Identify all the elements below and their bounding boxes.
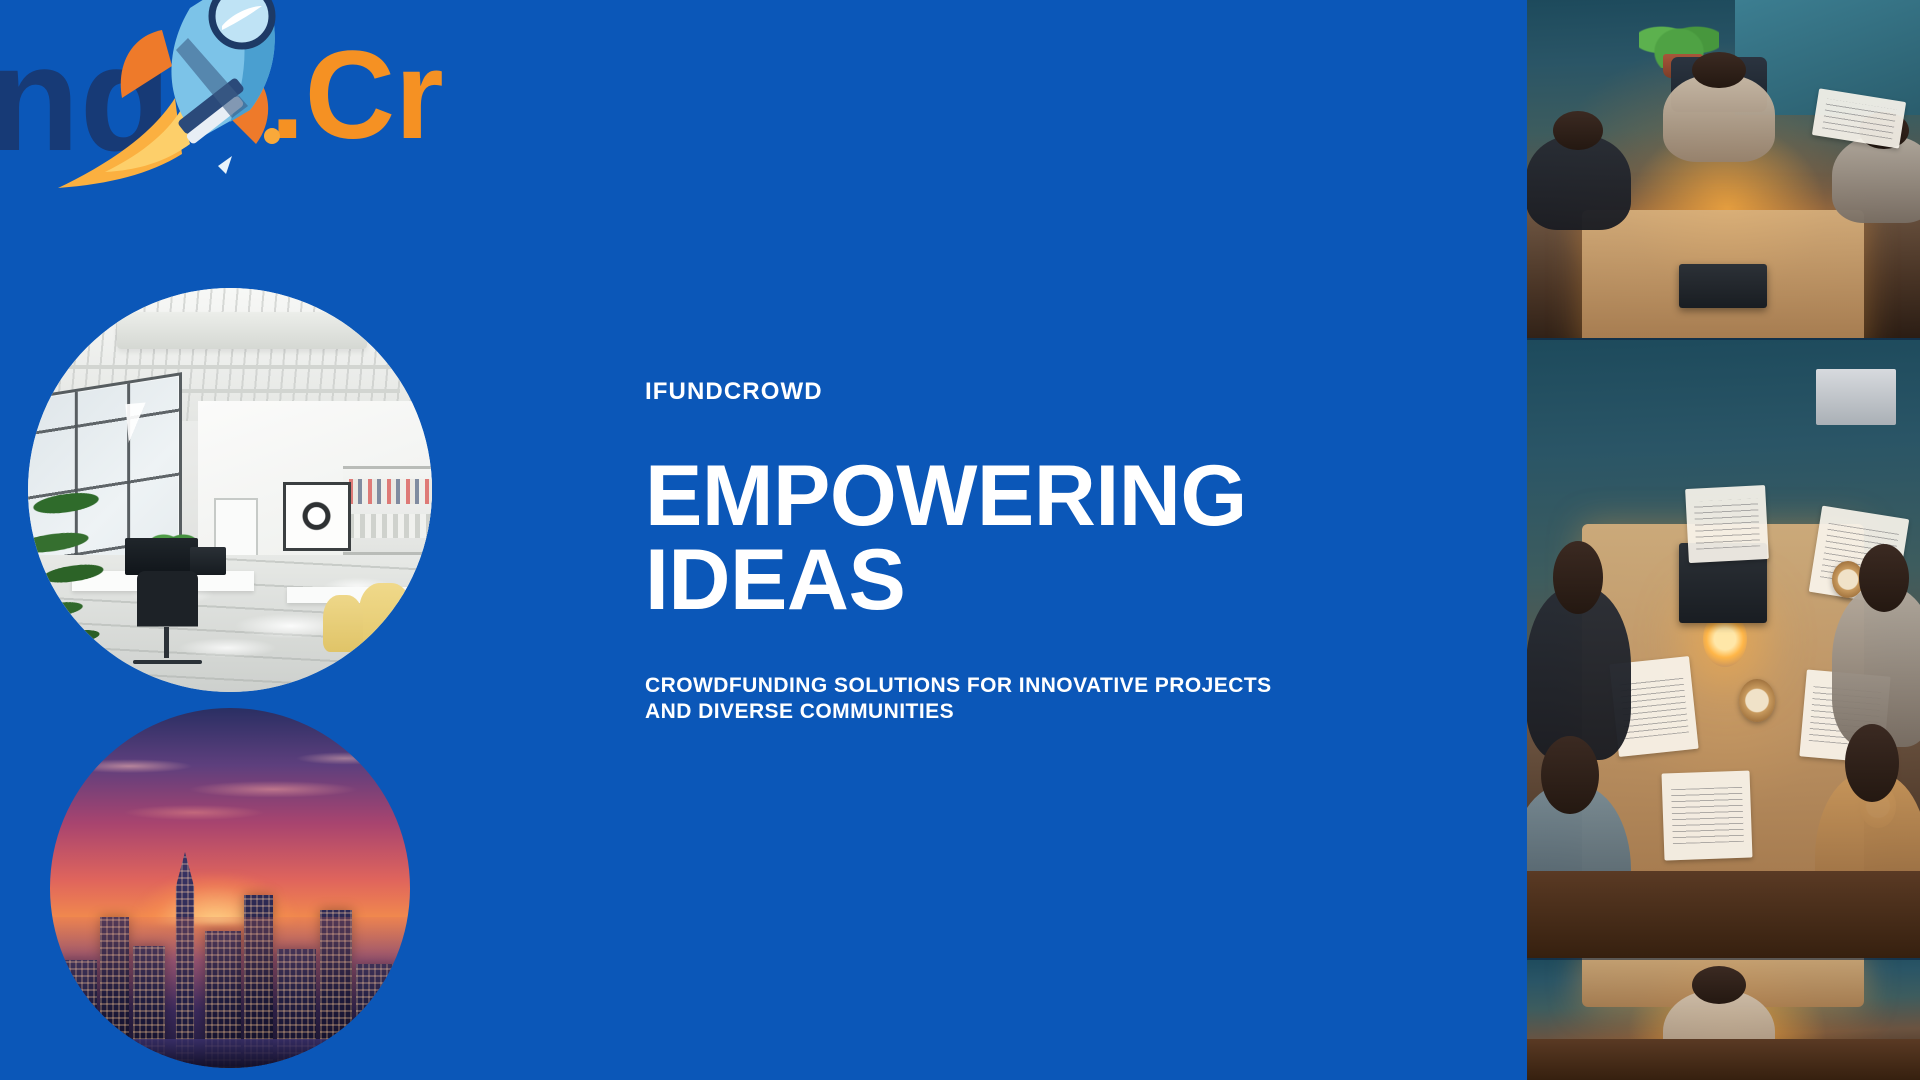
meeting-document <box>1685 485 1769 563</box>
panel-left-edge <box>1518 0 1527 1080</box>
brand-eyebrow: IFUNDCROWD <box>645 380 1465 404</box>
office-shelf <box>343 466 432 555</box>
subtitle-line-2: AND DIVERSE COMMUNITIES <box>645 699 1425 725</box>
circle-image-city <box>50 708 410 1068</box>
rocket-logo-icon: nd .Cr <box>0 0 570 228</box>
meeting-floor <box>1518 1039 1920 1080</box>
page-title: EMPOWERING IDEAS <box>645 454 1465 623</box>
office-yellow-chair <box>359 583 412 652</box>
photo-seam <box>1518 958 1920 960</box>
office-monitor-2 <box>190 547 226 575</box>
rocket-window <box>212 0 272 46</box>
meeting-laptop-2 <box>1816 369 1896 425</box>
office-yellow-chair-2 <box>323 595 363 652</box>
photo-strip <box>1518 0 1920 1080</box>
meeting-document <box>1661 770 1752 860</box>
office-task-chair <box>137 571 198 672</box>
circle-image-office <box>28 288 432 692</box>
meeting-person <box>1526 586 1631 760</box>
team-meeting-photo <box>1518 958 1920 1080</box>
meeting-person <box>1663 74 1776 162</box>
subtitle-line-1: CROWDFUNDING SOLUTIONS FOR INNOVATIVE PR… <box>645 673 1425 699</box>
office-wreath-artwork <box>283 482 352 551</box>
page-subtitle: CROWDFUNDING SOLUTIONS FOR INNOVATIVE PR… <box>645 673 1425 726</box>
office-beam <box>68 365 415 369</box>
city-clouds <box>50 730 410 860</box>
presentation-slide: nd .Cr <box>0 0 1920 1080</box>
team-meeting-photo <box>1518 0 1920 338</box>
team-meeting-photo <box>1518 338 1920 958</box>
rocket-spark-1 <box>264 128 280 144</box>
hero-text-block: IFUNDCROWD EMPOWERING IDEAS CROWDFUNDING… <box>645 380 1465 725</box>
city-skyline-photo <box>50 708 410 1068</box>
office-duct <box>117 312 367 348</box>
city-waterfront <box>50 1039 410 1068</box>
photo-seam <box>1518 338 1920 340</box>
photo-team-overhead-top <box>1518 0 1920 338</box>
meeting-laptop <box>1679 264 1767 308</box>
photo-team-overhead-middle <box>1518 338 1920 958</box>
logo-wordmark-right: .Cr <box>270 26 444 165</box>
ifundcrowd-logo[interactable]: nd .Cr <box>0 0 570 228</box>
headline-line-2: IDEAS <box>645 538 1465 622</box>
meeting-person <box>1832 586 1920 747</box>
photo-team-overhead-bottom <box>1518 958 1920 1080</box>
meeting-floor <box>1518 871 1920 958</box>
meeting-person <box>1832 135 1920 223</box>
rocket-spark-2 <box>218 156 232 174</box>
office-chair-base <box>133 660 202 664</box>
meeting-person <box>1526 135 1631 230</box>
headline-line-1: EMPOWERING <box>645 454 1465 538</box>
office-monitor <box>125 538 198 574</box>
office-interior-photo <box>28 288 432 692</box>
